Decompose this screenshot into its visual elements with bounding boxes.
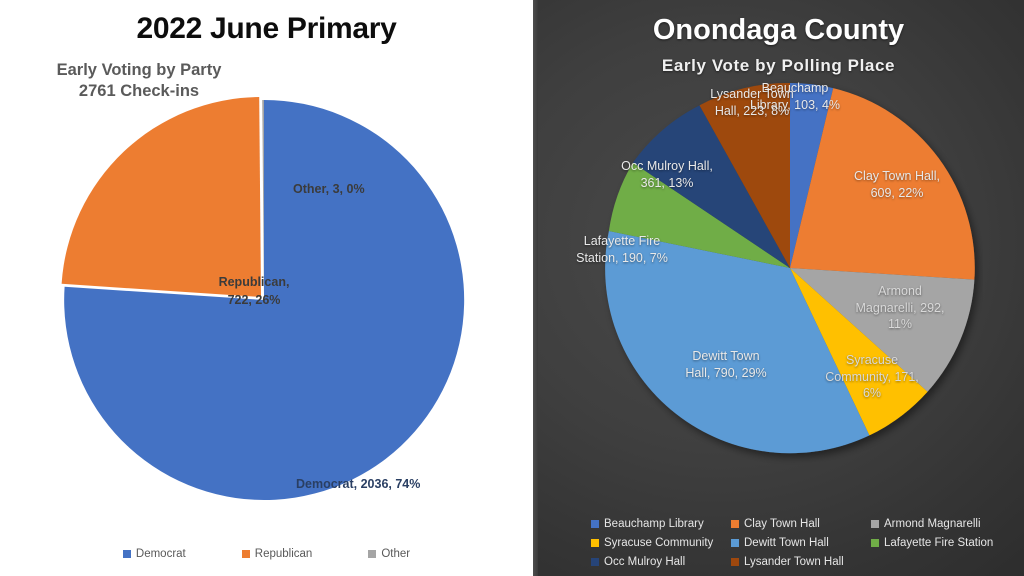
pie-label-clay-town-hall: Clay Town Hall, 609, 22% (838, 168, 956, 201)
pie-label-line: Dewitt Town (670, 348, 782, 365)
legend-label: Lysander Town Hall (744, 556, 844, 568)
pie-slice-republican[interactable] (62, 97, 261, 297)
legend-label: Armond Magnarelli (884, 518, 981, 530)
pie-label-line: Community, 171, (813, 369, 931, 386)
legend-swatch-icon (731, 539, 739, 547)
legend-item-clay-town-hall[interactable]: Clay Town Hall (731, 518, 871, 530)
legend-label: Syracuse Community (604, 537, 713, 549)
legend-swatch-icon (368, 550, 376, 558)
legend-item-lafayette-fire-station[interactable]: Lafayette Fire Station (871, 537, 1024, 549)
right-pie-chart: Beauchamp Library, 103, 4% Clay Town Hal… (598, 0, 983, 550)
right-chart-panel: Onondaga County Early Vote by Polling Pl… (533, 0, 1024, 576)
legend-swatch-icon (591, 539, 599, 547)
legend-swatch-icon (871, 520, 879, 528)
left-chart-panel: 2022 June Primary Early Voting by Party … (0, 0, 533, 576)
pie-label-line: Station, 190, 7% (560, 250, 684, 267)
pie-label-republican-line1: Republican, (189, 273, 319, 291)
pie-label-line: Lysander Town (698, 86, 806, 103)
pie-label-line: 6% (813, 385, 931, 402)
right-chart-legend: Beauchamp Library Clay Town Hall Armond … (533, 518, 1024, 568)
left-pie-chart: Other, 3, 0% Republican, 722, 26% Democr… (52, 96, 472, 508)
legend-item-syracuse-community[interactable]: Syracuse Community (591, 537, 731, 549)
legend-swatch-icon (871, 539, 879, 547)
legend-swatch-icon (591, 558, 599, 566)
pie-label-democrat: Democrat, 2036, 74% (296, 477, 420, 491)
pie-label-line: Hall, 790, 29% (670, 365, 782, 382)
legend-swatch-icon (731, 520, 739, 528)
legend-swatch-icon (242, 550, 250, 558)
pie-label-other: Other, 3, 0% (293, 182, 365, 196)
legend-label: Beauchamp Library (604, 518, 704, 530)
legend-label: Other (381, 548, 410, 560)
pie-label-line: Occ Mulroy Hall, (605, 158, 729, 175)
pie-label-line: 609, 22% (838, 185, 956, 202)
pie-label-republican-line2: 722, 26% (189, 291, 319, 309)
legend-swatch-icon (591, 520, 599, 528)
legend-label: Clay Town Hall (744, 518, 820, 530)
legend-item-other[interactable]: Other (368, 548, 410, 560)
pie-label-syracuse-community: Syracuse Community, 171, 6% (813, 352, 931, 402)
legend-label: Democrat (136, 548, 186, 560)
pie-label-republican: Republican, 722, 26% (189, 273, 319, 309)
legend-label: Dewitt Town Hall (744, 537, 829, 549)
legend-item-occ-mulroy-hall[interactable]: Occ Mulroy Hall (591, 556, 731, 568)
legend-item-lysander-town-hall[interactable]: Lysander Town Hall (731, 556, 871, 568)
slide-root: 2022 June Primary Early Voting by Party … (0, 0, 1024, 576)
legend-item-dewitt-town-hall[interactable]: Dewitt Town Hall (731, 537, 871, 549)
legend-label: Occ Mulroy Hall (604, 556, 685, 568)
pie-label-line: Armond (838, 283, 962, 300)
legend-label: Republican (255, 548, 313, 560)
legend-item-armond-magnarelli[interactable]: Armond Magnarelli (871, 518, 1024, 530)
pie-label-occ-mulroy-hall: Occ Mulroy Hall, 361, 13% (605, 158, 729, 191)
legend-swatch-icon (731, 558, 739, 566)
pie-label-lafayette-fire-station: Lafayette Fire Station, 190, 7% (560, 233, 684, 266)
left-chart-title: 2022 June Primary (0, 12, 533, 46)
pie-label-line: Magnarelli, 292, (838, 300, 962, 317)
left-subtitle-line1: Early Voting by Party (57, 61, 222, 79)
legend-item-democrat[interactable]: Democrat (123, 548, 186, 560)
pie-label-lysander-town-hall: Lysander Town Hall, 223, 8% (698, 86, 806, 119)
left-chart-legend: Democrat Republican Other (0, 548, 533, 560)
legend-item-republican[interactable]: Republican (242, 548, 313, 560)
pie-label-line: Clay Town Hall, (838, 168, 956, 185)
legend-swatch-icon (123, 550, 131, 558)
pie-label-line: Hall, 223, 8% (698, 103, 806, 120)
pie-slice-other[interactable] (262, 100, 264, 300)
legend-label: Lafayette Fire Station (884, 537, 993, 549)
pie-label-line: Syracuse (813, 352, 931, 369)
pie-label-armond-magnarelli: Armond Magnarelli, 292, 11% (838, 283, 962, 333)
pie-label-dewitt-town-hall: Dewitt Town Hall, 790, 29% (670, 348, 782, 381)
pie-label-line: 361, 13% (605, 175, 729, 192)
pie-label-line: Lafayette Fire (560, 233, 684, 250)
pie-label-line: 11% (838, 316, 962, 333)
legend-item-beauchamp-library[interactable]: Beauchamp Library (591, 518, 731, 530)
